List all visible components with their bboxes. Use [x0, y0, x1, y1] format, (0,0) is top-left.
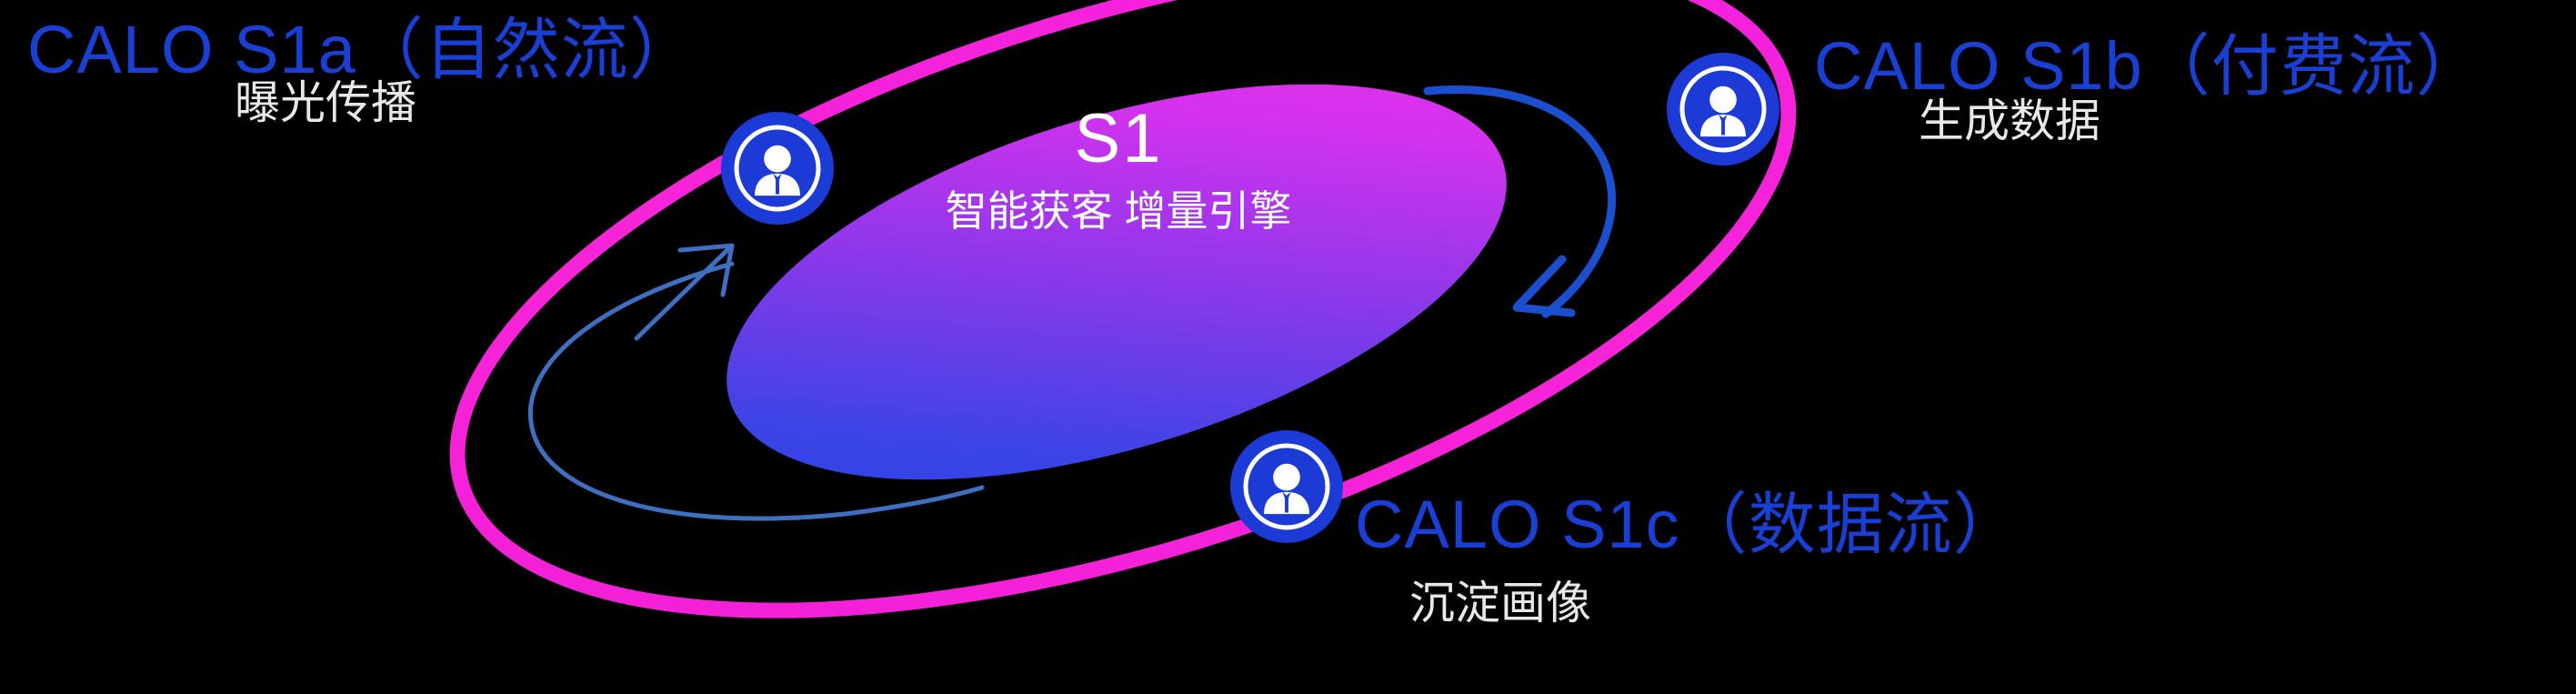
node-title-s1a: CALO S1a（自然流） — [27, 16, 697, 84]
core-title: S1 — [691, 105, 1546, 174]
node-caption-s1a: 曝光传播 — [235, 80, 416, 126]
node-caption-s1c: 沉淀画像 — [1409, 580, 1591, 626]
node-title-s1c: CALO S1c（数据流） — [1355, 491, 2021, 558]
node-caption-s1b: 生成数据 — [1919, 98, 2100, 144]
core-subtitle: 智能获客 增量引擎 — [691, 190, 1546, 232]
node-title-s1b: CALO S1b（付费流） — [1814, 33, 2484, 100]
node-badge-s1c[interactable] — [1230, 430, 1343, 543]
diagram-canvas: S1 智能获客 增量引擎 CALO S1a（自然流） 曝光传播 CALO S1b… — [0, 0, 2576, 694]
node-badge-s1b[interactable] — [1667, 53, 1779, 166]
core-label-group: S1 智能获客 增量引擎 — [691, 105, 1546, 232]
core-ellipse — [681, 5, 1552, 558]
